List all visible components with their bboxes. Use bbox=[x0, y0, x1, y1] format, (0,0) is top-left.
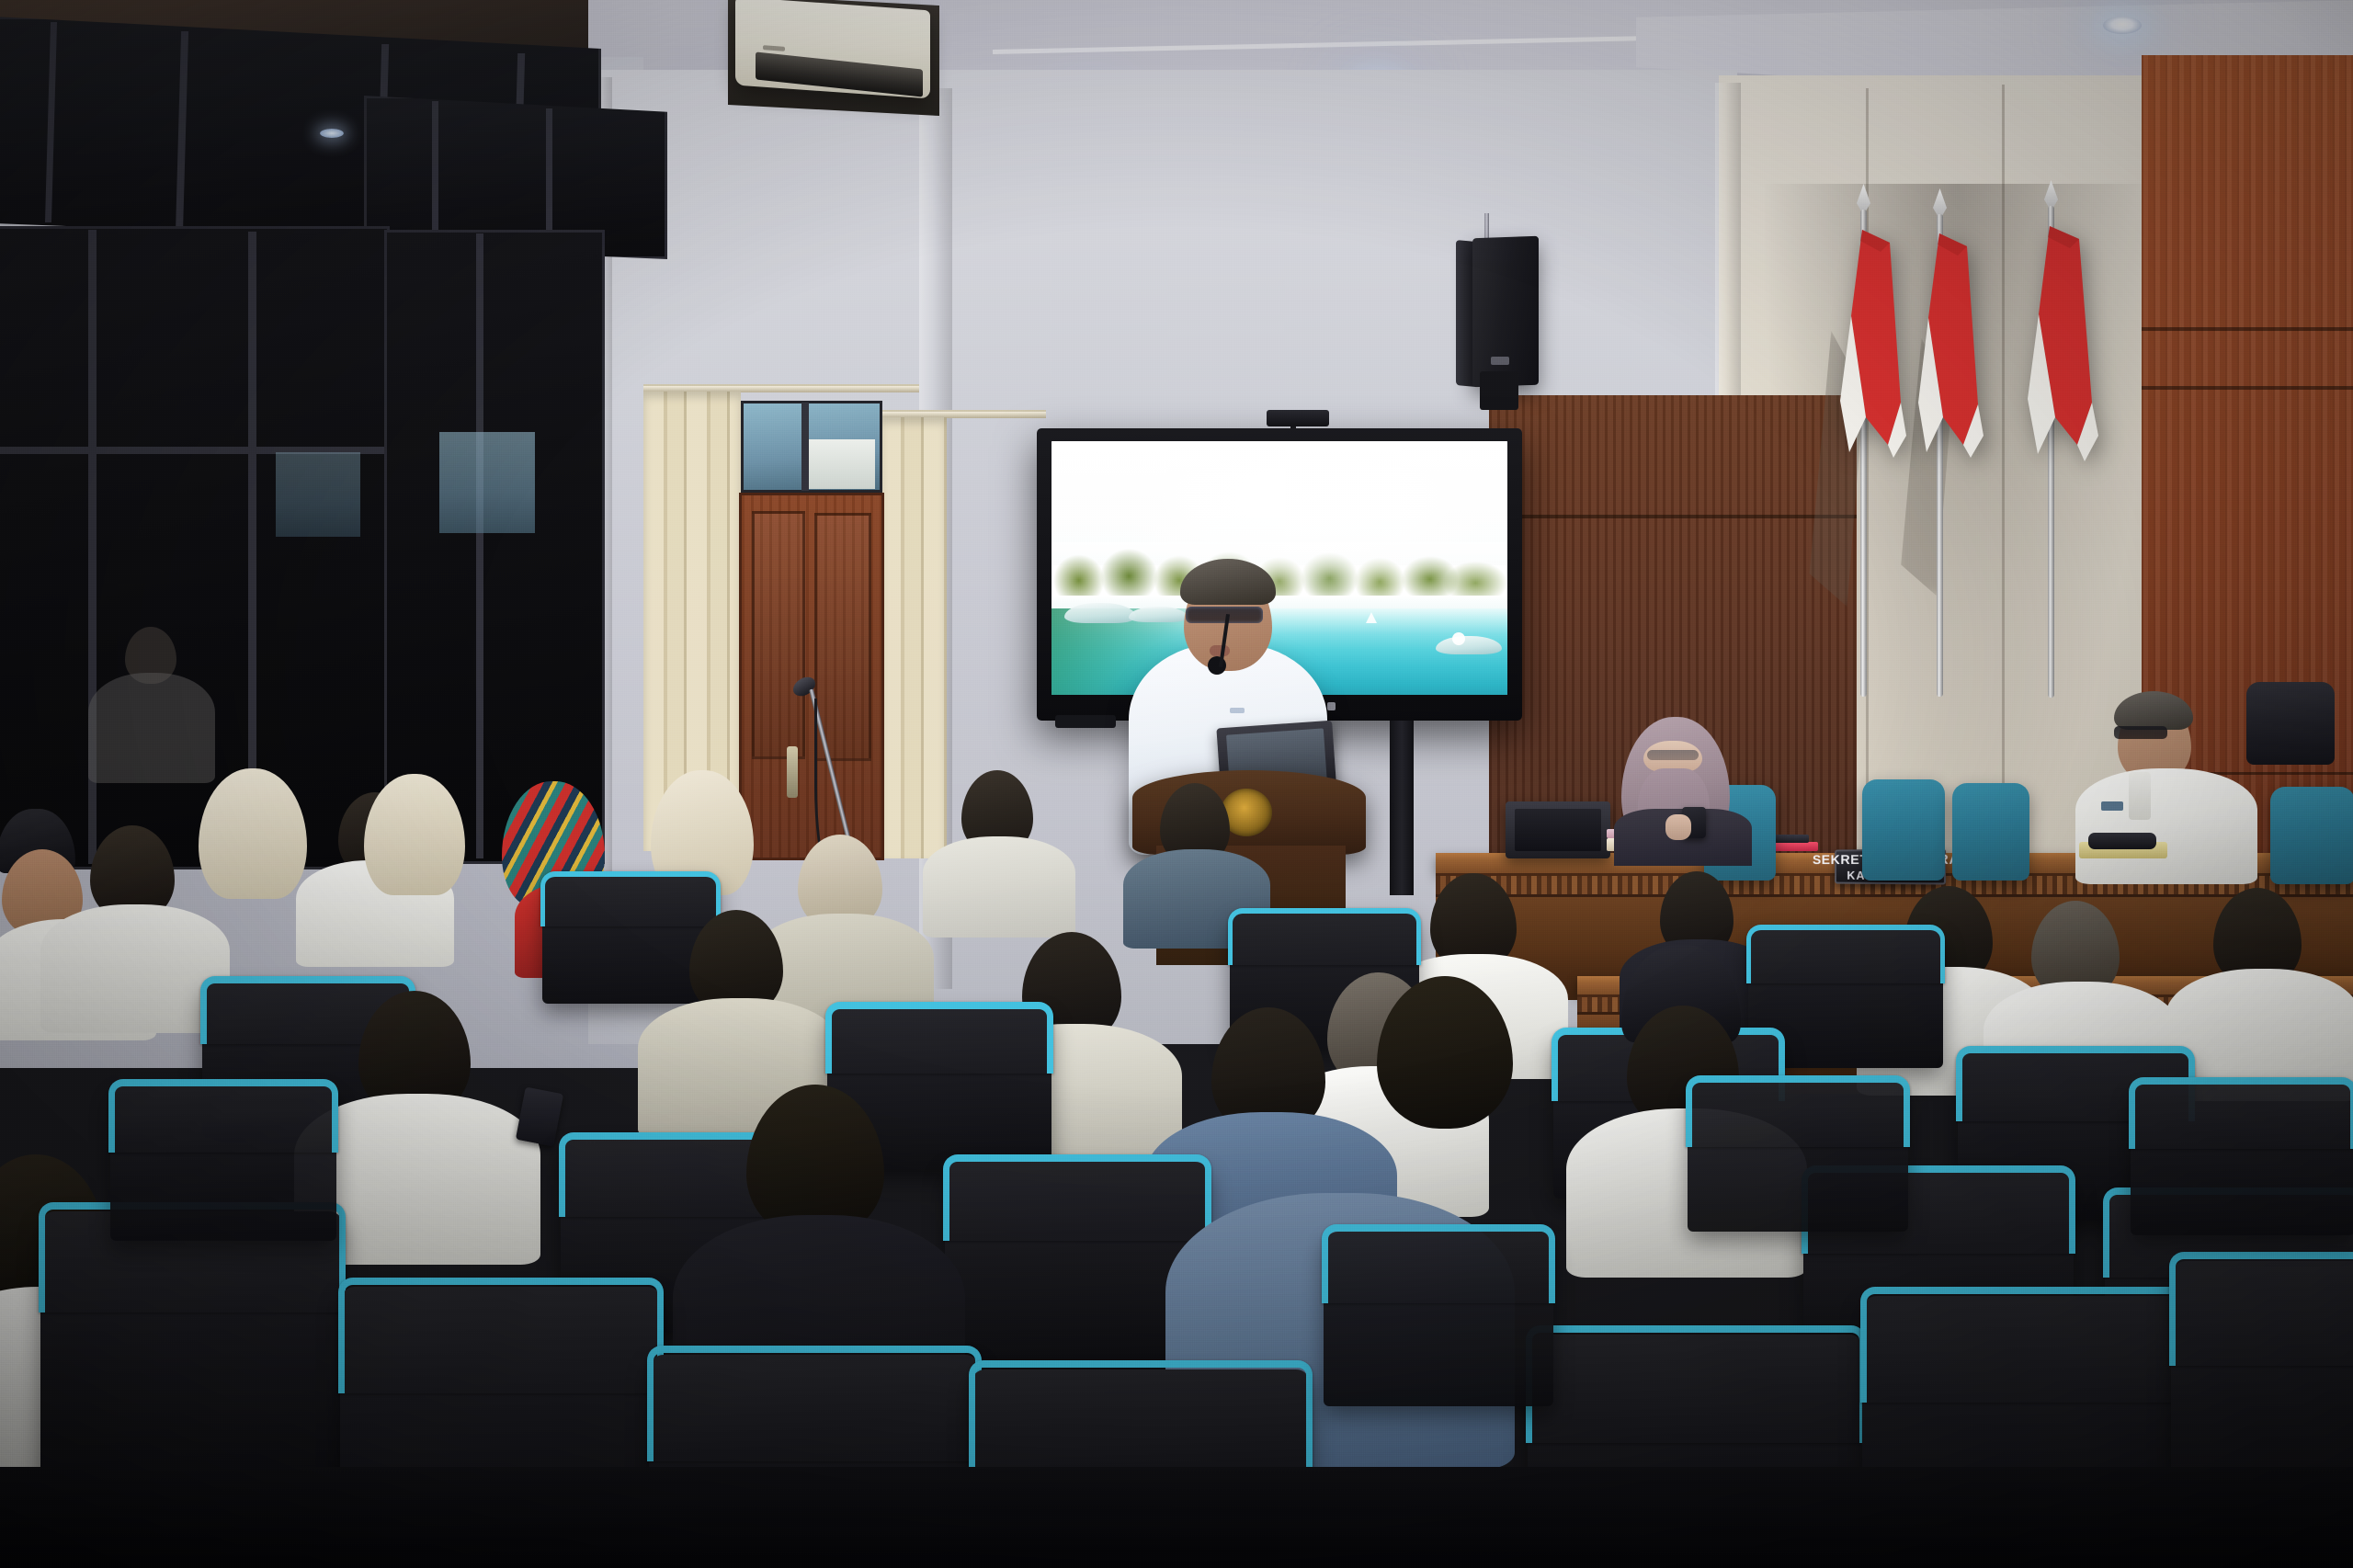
chair-frame-pipe bbox=[1526, 1325, 1866, 1443]
door-handle-icon[interactable] bbox=[787, 746, 798, 798]
chair-frame-pipe bbox=[1228, 908, 1421, 965]
ceiling-downlight-icon bbox=[2103, 17, 2142, 34]
office-chair-dark[interactable] bbox=[2246, 682, 2335, 765]
wood-seam bbox=[1489, 515, 1857, 518]
display-camera-bar bbox=[1267, 410, 1329, 426]
wood-seam bbox=[2142, 386, 2353, 390]
display-stand-column bbox=[1390, 721, 1414, 895]
flag-indonesia-2 bbox=[1914, 232, 1996, 458]
transom-mullion bbox=[801, 403, 809, 491]
chair-frame-pipe bbox=[1860, 1287, 2195, 1403]
audience-body bbox=[923, 836, 1075, 937]
wood-seam bbox=[2142, 327, 2353, 331]
slide-rock bbox=[1064, 603, 1136, 623]
pa-speaker-badge bbox=[1491, 357, 1509, 365]
koko-collar-placket bbox=[2129, 772, 2151, 820]
meeting-hall-photo: SEKRETARIS DAERAH KAB. CIAMIS bbox=[0, 0, 2353, 1568]
slide-mangrove-forest bbox=[1051, 542, 1507, 603]
chair-frame-pipe bbox=[969, 1360, 1313, 1478]
glass-reflection bbox=[439, 432, 535, 533]
silhouette-body bbox=[88, 673, 215, 783]
chair-frame-pipe bbox=[943, 1154, 1211, 1241]
laptop-screen bbox=[1515, 809, 1601, 851]
chair-frame-pipe bbox=[2129, 1077, 2353, 1149]
chair-frame-pipe bbox=[825, 1002, 1053, 1074]
eyeglasses-icon bbox=[2114, 726, 2167, 739]
chair-frame-pipe bbox=[540, 871, 721, 926]
dark-glass-panel bbox=[384, 230, 605, 864]
chair-frame-pipe bbox=[2169, 1252, 2353, 1366]
chair-frame-pipe bbox=[1322, 1224, 1555, 1303]
transom-bright-reflection bbox=[809, 439, 875, 489]
remote-control[interactable] bbox=[2088, 833, 2156, 849]
display-stand-foot bbox=[1055, 715, 1116, 728]
eyeglasses-icon bbox=[1647, 750, 1699, 760]
display-ir-sensor bbox=[1327, 702, 1336, 710]
slide-highlight bbox=[1452, 632, 1465, 645]
pa-speaker-bracket bbox=[1480, 371, 1518, 410]
mobile-phone-icon[interactable] bbox=[516, 1087, 563, 1147]
floor-foreground bbox=[0, 1467, 2353, 1568]
window-mullion bbox=[476, 233, 483, 858]
slide-rock bbox=[1129, 607, 1188, 622]
office-chair[interactable] bbox=[2270, 787, 2353, 884]
glass-reflection bbox=[276, 452, 360, 537]
name-badge bbox=[2101, 801, 2123, 811]
slide-rock bbox=[1436, 636, 1502, 654]
flag-indonesia-1 bbox=[1835, 228, 1919, 460]
chair-frame-pipe bbox=[647, 1346, 982, 1461]
chair-frame-pipe bbox=[1746, 925, 1945, 983]
chair-frame-pipe bbox=[338, 1278, 664, 1393]
flag-indonesia-3 bbox=[2022, 224, 2110, 461]
chair-frame-pipe bbox=[1686, 1075, 1910, 1147]
chair-frame-pipe bbox=[108, 1079, 338, 1153]
distant-light-icon bbox=[320, 129, 344, 138]
shirt-pocket-logo bbox=[1230, 708, 1245, 713]
office-chair[interactable] bbox=[1952, 783, 2029, 881]
person-dais-right-body bbox=[2075, 768, 2257, 884]
person-dais-hand bbox=[1665, 814, 1691, 840]
vertical-blinds-right[interactable] bbox=[881, 417, 947, 858]
door-panel bbox=[752, 511, 805, 759]
office-chair[interactable] bbox=[1862, 779, 1945, 881]
